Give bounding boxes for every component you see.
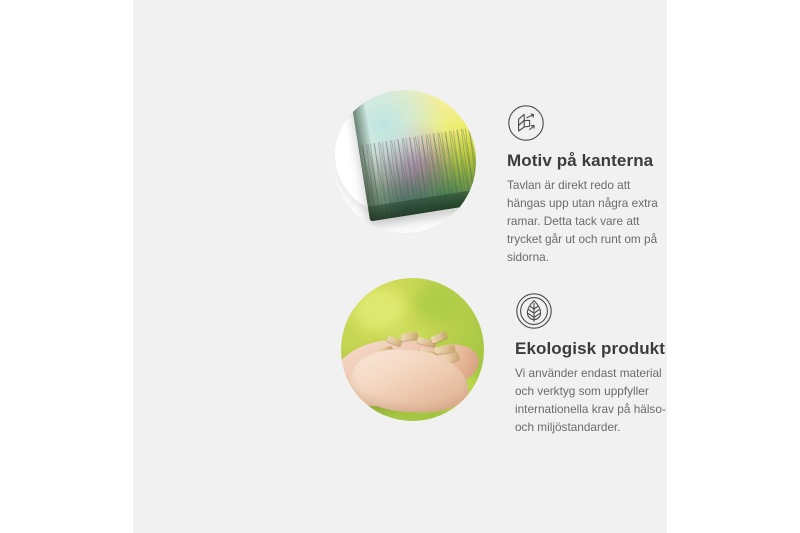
bokeh-highlight — [415, 282, 461, 322]
bokeh-highlight — [353, 288, 405, 330]
content-panel: Motiv på kanterna Tavlan är direkt redo … — [133, 0, 667, 533]
feature-copy: Motiv på kanterna Tavlan är direkt redo … — [507, 90, 667, 267]
hands-with-wood-chips-photo — [341, 278, 484, 421]
feature-description: Vi använder endast material och verktyg … — [515, 365, 667, 437]
canvas-edge-print-icon — [507, 104, 545, 142]
feature-title: Ekologisk produkt — [515, 339, 667, 359]
product-feature-page: Motiv på kanterna Tavlan är direkt redo … — [0, 0, 800, 533]
feature-title: Motiv på kanterna — [507, 151, 667, 171]
feature-copy: Ekologisk produkt Vi använder endast mat… — [515, 278, 667, 437]
feature-description: Tavlan är direkt redo att hängas upp uta… — [507, 177, 667, 267]
feature-block-ekologisk-produkt: Ekologisk produkt Vi använder endast mat… — [341, 278, 667, 437]
feature-block-motiv-pa-kanterna: Motiv på kanterna Tavlan är direkt redo … — [333, 90, 667, 267]
leaf-icon — [515, 292, 553, 330]
canvas-block — [349, 90, 476, 222]
canvas-print-corner-photo — [333, 90, 476, 233]
